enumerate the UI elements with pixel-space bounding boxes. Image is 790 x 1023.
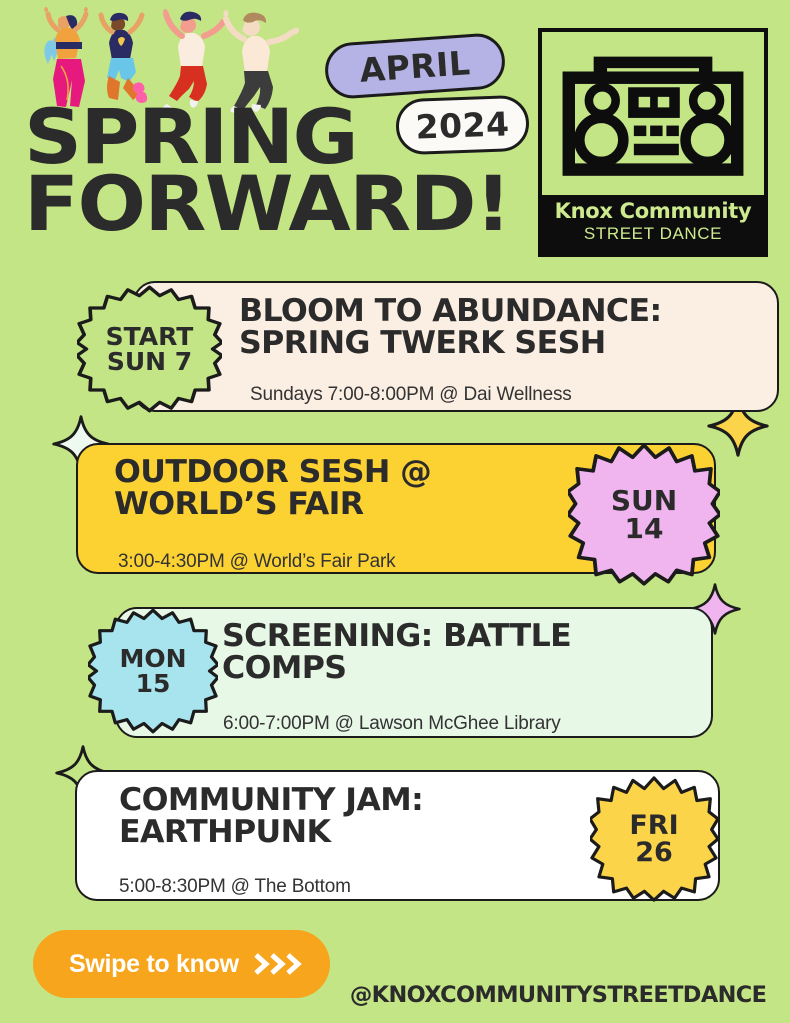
- double-chevron-right-icon: [253, 952, 305, 976]
- event-4-badge-day: FRI: [629, 812, 678, 839]
- event-1-title-line-1: BLOOM TO ABUNDANCE:: [239, 293, 662, 329]
- event-4-title-line-2: EARTHPUNK: [119, 814, 330, 850]
- poster-canvas: SPRING FORWARD! APRIL 2024: [0, 0, 790, 1023]
- event-4-badge-num: 26: [629, 839, 678, 866]
- event-1-badge-text: START SUN 7: [106, 324, 194, 374]
- event-4-badge-text: FRI 26: [629, 812, 678, 866]
- event-1-badge-day: START: [106, 324, 194, 349]
- event-1-title: BLOOM TO ABUNDANCE: SPRING TWERK SESH: [239, 296, 785, 359]
- event-4-title-line-1: COMMUNITY JAM:: [119, 782, 423, 818]
- swipe-to-know-button[interactable]: Swipe to know: [33, 930, 330, 998]
- month-pill: APRIL: [323, 32, 506, 100]
- event-4-date-badge: FRI 26: [590, 776, 718, 902]
- year-pill: 2024: [395, 95, 530, 156]
- event-4-title: COMMUNITY JAM: EARTHPUNK: [119, 785, 598, 848]
- event-2-badge-text: SUN 14: [611, 487, 677, 543]
- event-3-badge-num: 15: [119, 671, 186, 696]
- event-2-badge-num: 14: [611, 515, 677, 543]
- brand-logo: Knox Community STREET DANCE: [538, 28, 768, 257]
- logo-text-band: Knox Community STREET DANCE: [542, 195, 764, 253]
- event-3-title: SCREENING: BATTLE COMPS: [222, 621, 701, 684]
- event-4-details: 5:00-8:30PM @ The Bottom: [119, 876, 351, 898]
- headline-line-2: FORWARD!: [24, 171, 575, 238]
- event-3-title-line-2: COMPS: [222, 650, 346, 686]
- event-2-badge-day: SUN: [611, 487, 677, 515]
- event-2-title-line-2: WORLD’S FAIR: [114, 486, 364, 522]
- event-3-badge-day: MON: [119, 646, 186, 671]
- event-2-title: OUTDOOR SESH @ WORLD’S FAIR: [114, 457, 593, 520]
- cta-label: Swipe to know: [69, 950, 239, 979]
- event-1-title-line-2: SPRING TWERK SESH: [239, 325, 606, 361]
- logo-name: Knox Community: [548, 199, 758, 223]
- poster-header: SPRING FORWARD! APRIL 2024: [0, 0, 790, 268]
- event-3-badge-text: MON 15: [119, 646, 186, 696]
- event-3-date-badge: MON 15: [88, 607, 218, 735]
- event-3-details: 6:00-7:00PM @ Lawson McGhee Library: [223, 713, 561, 735]
- event-2-title-line-1: OUTDOOR SESH @: [114, 454, 431, 490]
- event-1-details: Sundays 7:00-8:00PM @ Dai Wellness: [250, 384, 572, 406]
- logo-subtitle: STREET DANCE: [548, 223, 758, 245]
- year-pill-label: 2024: [415, 104, 510, 146]
- event-3-title-line-1: SCREENING: BATTLE: [222, 618, 571, 654]
- event-1-badge-num: SUN 7: [106, 349, 194, 374]
- social-handle: @KNOXCOMMUNITYSTREETDANCE: [350, 983, 766, 1008]
- event-1-date-badge: START SUN 7: [77, 284, 222, 414]
- boombox-icon: [542, 32, 764, 195]
- event-2-date-badge: SUN 14: [568, 443, 720, 586]
- month-pill-label: APRIL: [358, 43, 471, 90]
- event-2-details: 3:00-4:30PM @ World’s Fair Park: [118, 551, 395, 573]
